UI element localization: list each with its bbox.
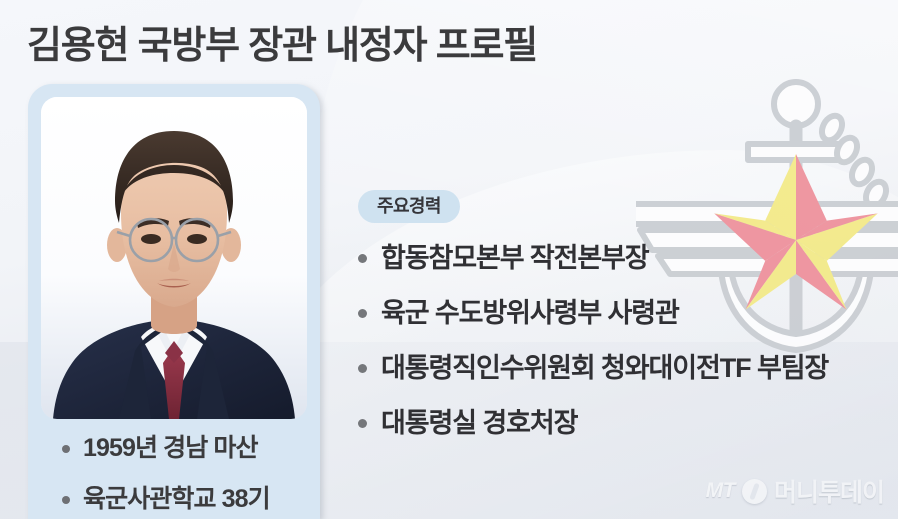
bullet-icon bbox=[62, 496, 70, 504]
list-item: 합동참모본부 작전본부장 bbox=[358, 245, 828, 272]
watermark-prefix: MT bbox=[706, 479, 735, 503]
list-item: 육군사관학교 38기 bbox=[62, 487, 312, 512]
career-item-label: 합동참모본부 작전본부장 bbox=[381, 245, 649, 272]
career-section: 주요경력 합동참모본부 작전본부장 육군 수도방위사령부 사령관 대통령직인수위… bbox=[358, 190, 828, 437]
list-item: 대통령실 경호처장 bbox=[358, 410, 828, 437]
career-item-label: 대통령직인수위원회 청와대이전TF 부팀장 bbox=[381, 355, 828, 382]
profile-photo-panel: 1959년 경남 마산 육군사관학교 38기 bbox=[28, 84, 320, 519]
profile-photo bbox=[41, 97, 307, 419]
bullet-icon bbox=[62, 445, 70, 453]
bullet-icon bbox=[358, 254, 367, 263]
bio-item-label: 육군사관학교 38기 bbox=[83, 487, 270, 512]
career-section-badge: 주요경력 bbox=[358, 190, 460, 223]
bullet-icon bbox=[358, 419, 367, 428]
bio-item-label: 1959년 경남 마산 bbox=[83, 436, 258, 461]
list-item: 육군 수도방위사령부 사령관 bbox=[358, 300, 828, 327]
bullet-icon bbox=[358, 364, 367, 373]
career-item-label: 대통령실 경호처장 bbox=[381, 410, 577, 437]
list-item: 1959년 경남 마산 bbox=[62, 436, 312, 461]
career-item-label: 육군 수도방위사령부 사령관 bbox=[381, 300, 679, 327]
page-title: 김용현 국방부 장관 내정자 프로필 bbox=[27, 14, 537, 69]
list-item: 대통령직인수위원회 청와대이전TF 부팀장 bbox=[358, 355, 828, 382]
moneytoday-logo-icon bbox=[742, 479, 767, 504]
bio-list: 1959년 경남 마산 육군사관학교 38기 bbox=[62, 436, 312, 519]
bullet-icon bbox=[358, 309, 367, 318]
profile-infographic: 김용현 국방부 장관 내정자 프로필 bbox=[0, 0, 898, 519]
moneytoday-watermark: MT 머니투데이 bbox=[706, 473, 884, 509]
career-list: 합동참모본부 작전본부장 육군 수도방위사령부 사령관 대통령직인수위원회 청와… bbox=[358, 245, 828, 437]
watermark-label: 머니투데이 bbox=[774, 473, 884, 509]
